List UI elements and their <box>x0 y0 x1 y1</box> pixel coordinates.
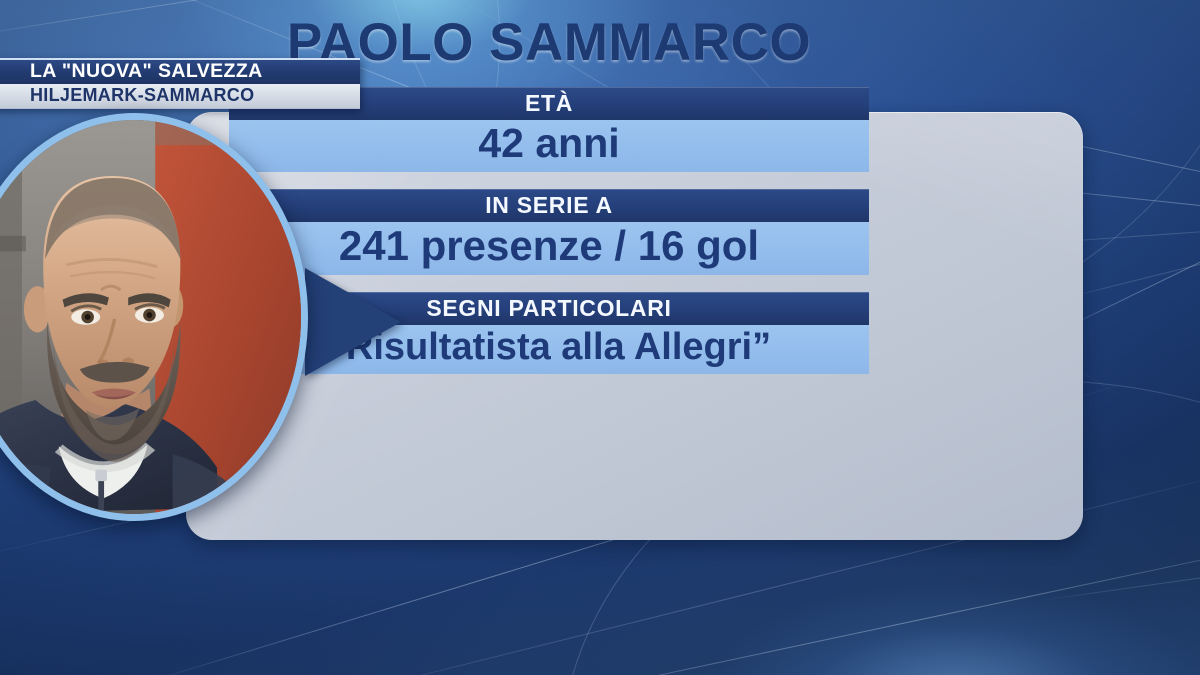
stat-value-age: 42 anni <box>229 120 869 172</box>
topic-title-secondary-text: HILJEMARK-SAMMARCO <box>30 85 254 106</box>
bg-streak <box>1040 555 1200 601</box>
topic-title-secondary: HILJEMARK-SAMMARCO <box>0 84 360 109</box>
topic-title-primary-text: LA "NUOVA" SALVEZZA <box>30 60 263 83</box>
pointer-arrow-icon <box>305 268 401 376</box>
broadcast-graphic: LA "NUOVA" SALVEZZA HILJEMARK-SAMMARCO P… <box>0 0 1200 675</box>
stat-row-serie-a: IN SERIE A 241 presenze / 16 gol <box>229 189 869 275</box>
topic-title-primary: LA "NUOVA" SALVEZZA <box>0 58 360 84</box>
topic-title-block: LA "NUOVA" SALVEZZA HILJEMARK-SAMMARCO <box>0 58 360 109</box>
stat-value-serie-a: 241 presenze / 16 gol <box>229 222 869 275</box>
stat-label-serie-a: IN SERIE A <box>229 189 869 222</box>
portrait-illustration <box>0 120 301 514</box>
